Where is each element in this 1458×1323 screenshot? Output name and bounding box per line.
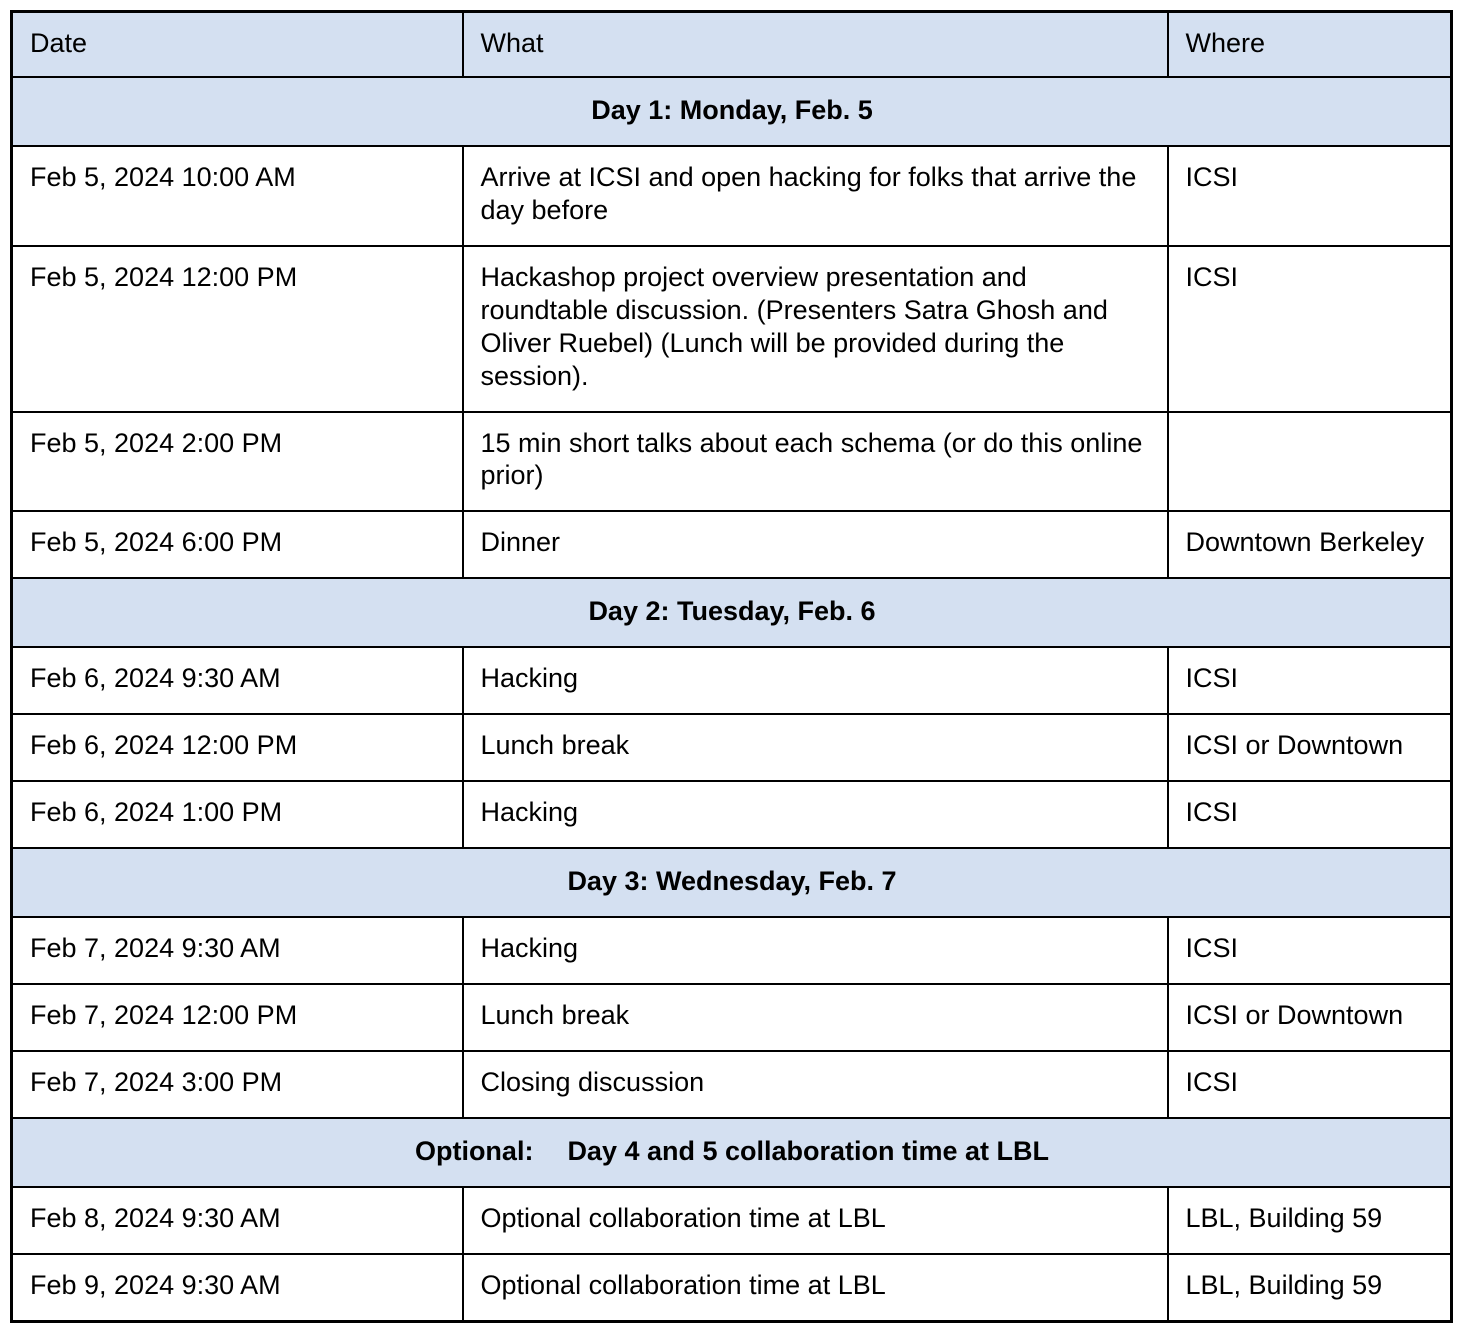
column-header-where: Where xyxy=(1168,12,1452,77)
table-header: Date What Where xyxy=(12,12,1452,77)
cell-date: Feb 7, 2024 3:00 PM xyxy=(12,1051,463,1118)
header-row: Date What Where xyxy=(12,12,1452,77)
column-header-date: Date xyxy=(12,12,463,77)
table-row: Feb 7, 2024 3:00 PMClosing discussionICS… xyxy=(12,1051,1452,1118)
table-row: Feb 5, 2024 6:00 PMDinnerDowntown Berkel… xyxy=(12,511,1452,578)
schedule-sheet: Date What Where Day 1: Monday, Feb. 5Feb… xyxy=(0,0,1458,1190)
cell-what: Hacking xyxy=(463,917,1168,984)
section-title: Day 1: Monday, Feb. 5 xyxy=(12,77,1452,146)
table-row: Feb 7, 2024 12:00 PMLunch breakICSI or D… xyxy=(12,984,1452,1051)
cell-date: Feb 5, 2024 2:00 PM xyxy=(12,412,463,512)
table-row: Feb 6, 2024 12:00 PMLunch breakICSI or D… xyxy=(12,714,1452,781)
cell-date: Feb 6, 2024 9:30 AM xyxy=(12,647,463,714)
column-header-what: What xyxy=(463,12,1168,77)
table-row: Feb 7, 2024 9:30 AMHackingICSI xyxy=(12,917,1452,984)
cell-date: Feb 7, 2024 12:00 PM xyxy=(12,984,463,1051)
schedule-table: Date What Where Day 1: Monday, Feb. 5Feb… xyxy=(10,10,1453,1323)
cell-what: Dinner xyxy=(463,511,1168,578)
cell-what: 15 min short talks about each schema (or… xyxy=(463,412,1168,512)
cell-where: ICSI xyxy=(1168,146,1452,246)
cell-what: Hacking xyxy=(463,647,1168,714)
cell-what: Optional collaboration time at LBL xyxy=(463,1254,1168,1321)
section-header-row: Optional:Day 4 and 5 collaboration time … xyxy=(12,1118,1452,1187)
cell-where: ICSI or Downtown xyxy=(1168,714,1452,781)
cell-where: ICSI xyxy=(1168,781,1452,848)
section-title-text: Day 1: Monday, Feb. 5 xyxy=(591,95,873,125)
section-title: Day 3: Wednesday, Feb. 7 xyxy=(12,848,1452,917)
cell-where: LBL, Building 59 xyxy=(1168,1187,1452,1254)
table-row: Feb 5, 2024 12:00 PMHackashop project ov… xyxy=(12,246,1452,412)
cell-where: ICSI or Downtown xyxy=(1168,984,1452,1051)
cell-what: Hacking xyxy=(463,781,1168,848)
cell-date: Feb 9, 2024 9:30 AM xyxy=(12,1254,463,1321)
cell-date: Feb 6, 2024 12:00 PM xyxy=(12,714,463,781)
table-row: Feb 5, 2024 10:00 AMArrive at ICSI and o… xyxy=(12,146,1452,246)
table-row: Feb 6, 2024 1:00 PMHackingICSI xyxy=(12,781,1452,848)
cell-what: Closing discussion xyxy=(463,1051,1168,1118)
cell-date: Feb 6, 2024 1:00 PM xyxy=(12,781,463,848)
cell-where: ICSI xyxy=(1168,647,1452,714)
cell-date: Feb 7, 2024 9:30 AM xyxy=(12,917,463,984)
cell-what: Hackashop project overview presentation … xyxy=(463,246,1168,412)
cell-date: Feb 5, 2024 12:00 PM xyxy=(12,246,463,412)
cell-what: Optional collaboration time at LBL xyxy=(463,1187,1168,1254)
cell-what: Arrive at ICSI and open hacking for folk… xyxy=(463,146,1168,246)
cell-where xyxy=(1168,412,1452,512)
cell-what: Lunch break xyxy=(463,714,1168,781)
cell-where: ICSI xyxy=(1168,246,1452,412)
cell-where: Downtown Berkeley xyxy=(1168,511,1452,578)
table-row: Feb 5, 2024 2:00 PM15 min short talks ab… xyxy=(12,412,1452,512)
section-title: Optional:Day 4 and 5 collaboration time … xyxy=(12,1118,1452,1187)
cell-where: ICSI xyxy=(1168,917,1452,984)
section-title-prefix: Optional: xyxy=(415,1136,533,1166)
cell-where: LBL, Building 59 xyxy=(1168,1254,1452,1321)
cell-date: Feb 5, 2024 10:00 AM xyxy=(12,146,463,246)
section-header-row: Day 2: Tuesday, Feb. 6 xyxy=(12,578,1452,647)
section-title-text: Day 3: Wednesday, Feb. 7 xyxy=(567,866,896,896)
section-title: Day 2: Tuesday, Feb. 6 xyxy=(12,578,1452,647)
cell-what: Lunch break xyxy=(463,984,1168,1051)
section-title-text: Day 2: Tuesday, Feb. 6 xyxy=(588,596,875,626)
section-header-row: Day 1: Monday, Feb. 5 xyxy=(12,77,1452,146)
section-header-row: Day 3: Wednesday, Feb. 7 xyxy=(12,848,1452,917)
cell-date: Feb 5, 2024 6:00 PM xyxy=(12,511,463,578)
cell-date: Feb 8, 2024 9:30 AM xyxy=(12,1187,463,1254)
table-row: Feb 8, 2024 9:30 AMOptional collaboratio… xyxy=(12,1187,1452,1254)
section-title-text: Day 4 and 5 collaboration time at LBL xyxy=(567,1136,1049,1166)
table-row: Feb 6, 2024 9:30 AMHackingICSI xyxy=(12,647,1452,714)
cell-where: ICSI xyxy=(1168,1051,1452,1118)
table-body: Day 1: Monday, Feb. 5Feb 5, 2024 10:00 A… xyxy=(12,77,1452,1321)
table-row: Feb 9, 2024 9:30 AMOptional collaboratio… xyxy=(12,1254,1452,1321)
